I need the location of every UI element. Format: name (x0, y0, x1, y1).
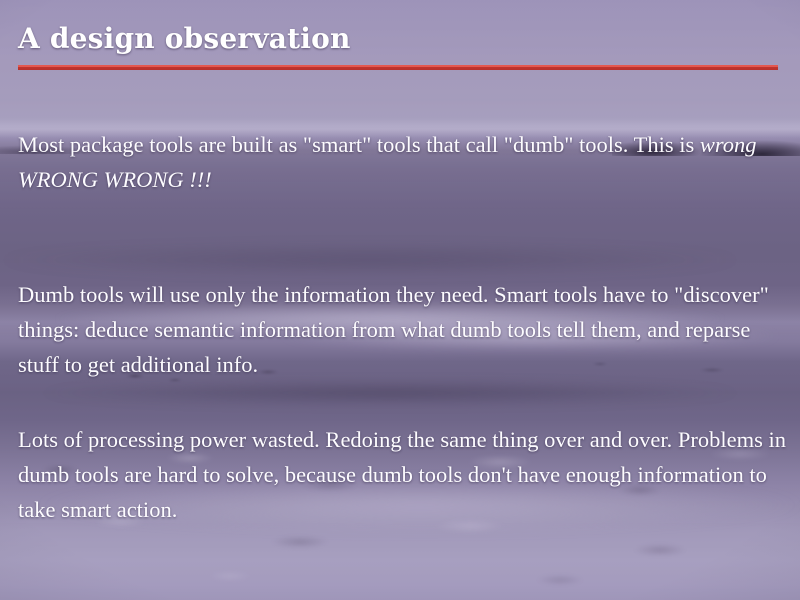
title-underline-rule (18, 65, 778, 70)
paragraph-run-text: Lots of processing power wasted. Redoing… (18, 427, 786, 522)
body-paragraph-2: Dumb tools will use only the information… (18, 277, 786, 382)
paragraph-run-text: Dumb tools will use only the information… (18, 282, 769, 377)
paragraph-run-text: Most package tools are built as "smart" … (18, 132, 700, 157)
presentation-slide: A design observation Most package tools … (0, 0, 800, 600)
body-paragraph-3: Lots of processing power wasted. Redoing… (18, 422, 786, 527)
slide-content: A design observation Most package tools … (0, 0, 800, 600)
slide-title: A design observation (18, 22, 351, 56)
body-paragraph-1: Most package tools are built as "smart" … (18, 127, 786, 197)
